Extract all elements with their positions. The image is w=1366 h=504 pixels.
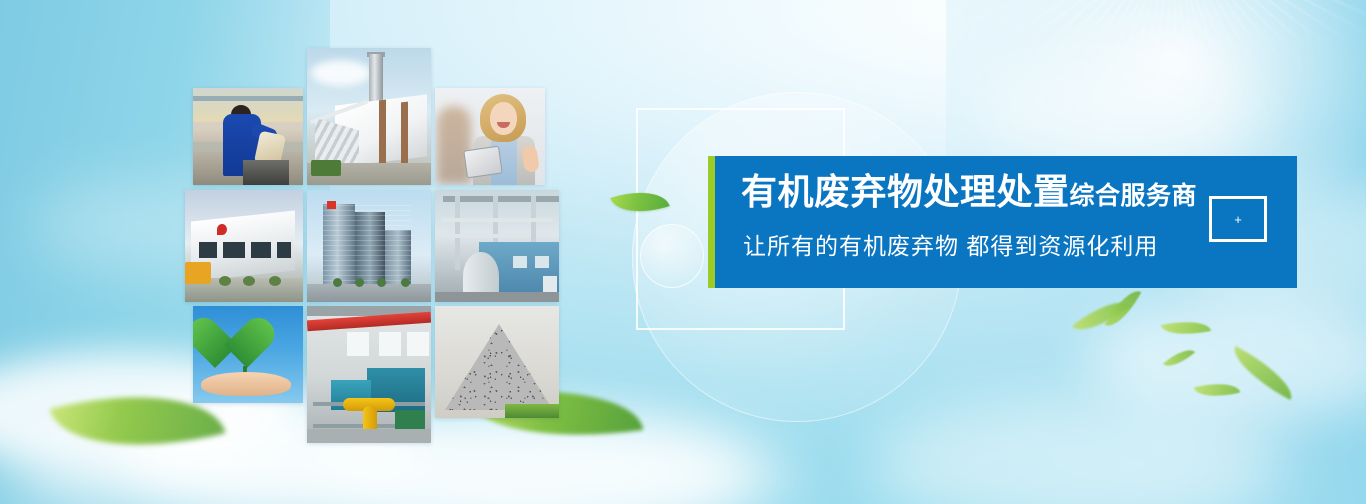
collage-photo-hand-holding-green-heart xyxy=(193,306,303,403)
collage-photo-incineration-plant xyxy=(307,48,431,185)
headline-panel: 有机废弃物处理处置综合服务商 让所有的有机废弃物 都得到资源化利用 + xyxy=(708,156,1297,288)
photo-collage xyxy=(185,40,560,440)
accent-bar xyxy=(708,156,715,288)
collage-photo-businesswoman-thumbs-up xyxy=(435,88,545,185)
collage-photo-office-towers xyxy=(307,190,431,302)
plus-button[interactable]: + xyxy=(1209,196,1267,242)
collage-photo-pipeline-machinery-hall xyxy=(307,306,431,443)
headline-title: 有机废弃物处理处置综合服务商 xyxy=(741,174,1197,212)
headline-main-text: 有机废弃物处理处置 xyxy=(741,171,1070,212)
headline-suffix-text: 综合服务商 xyxy=(1070,182,1198,210)
cloud-icon xyxy=(960,60,1260,170)
plus-icon: + xyxy=(1234,213,1242,226)
collage-photo-factory-workshop-exterior xyxy=(185,190,303,302)
hero-banner: 有机废弃物处理处置综合服务商 让所有的有机废弃物 都得到资源化利用 + xyxy=(0,0,1366,504)
collage-photo-blue-process-building xyxy=(435,190,559,302)
decor-circle-small xyxy=(640,224,704,288)
collage-photo-grey-sludge-pile xyxy=(435,306,559,418)
collage-photo-worker-feeding-material xyxy=(193,88,303,185)
headline-body: 有机废弃物处理处置综合服务商 让所有的有机废弃物 都得到资源化利用 + xyxy=(715,156,1297,288)
headline-subtitle: 让所有的有机废弃物 都得到资源化利用 xyxy=(743,227,1158,261)
